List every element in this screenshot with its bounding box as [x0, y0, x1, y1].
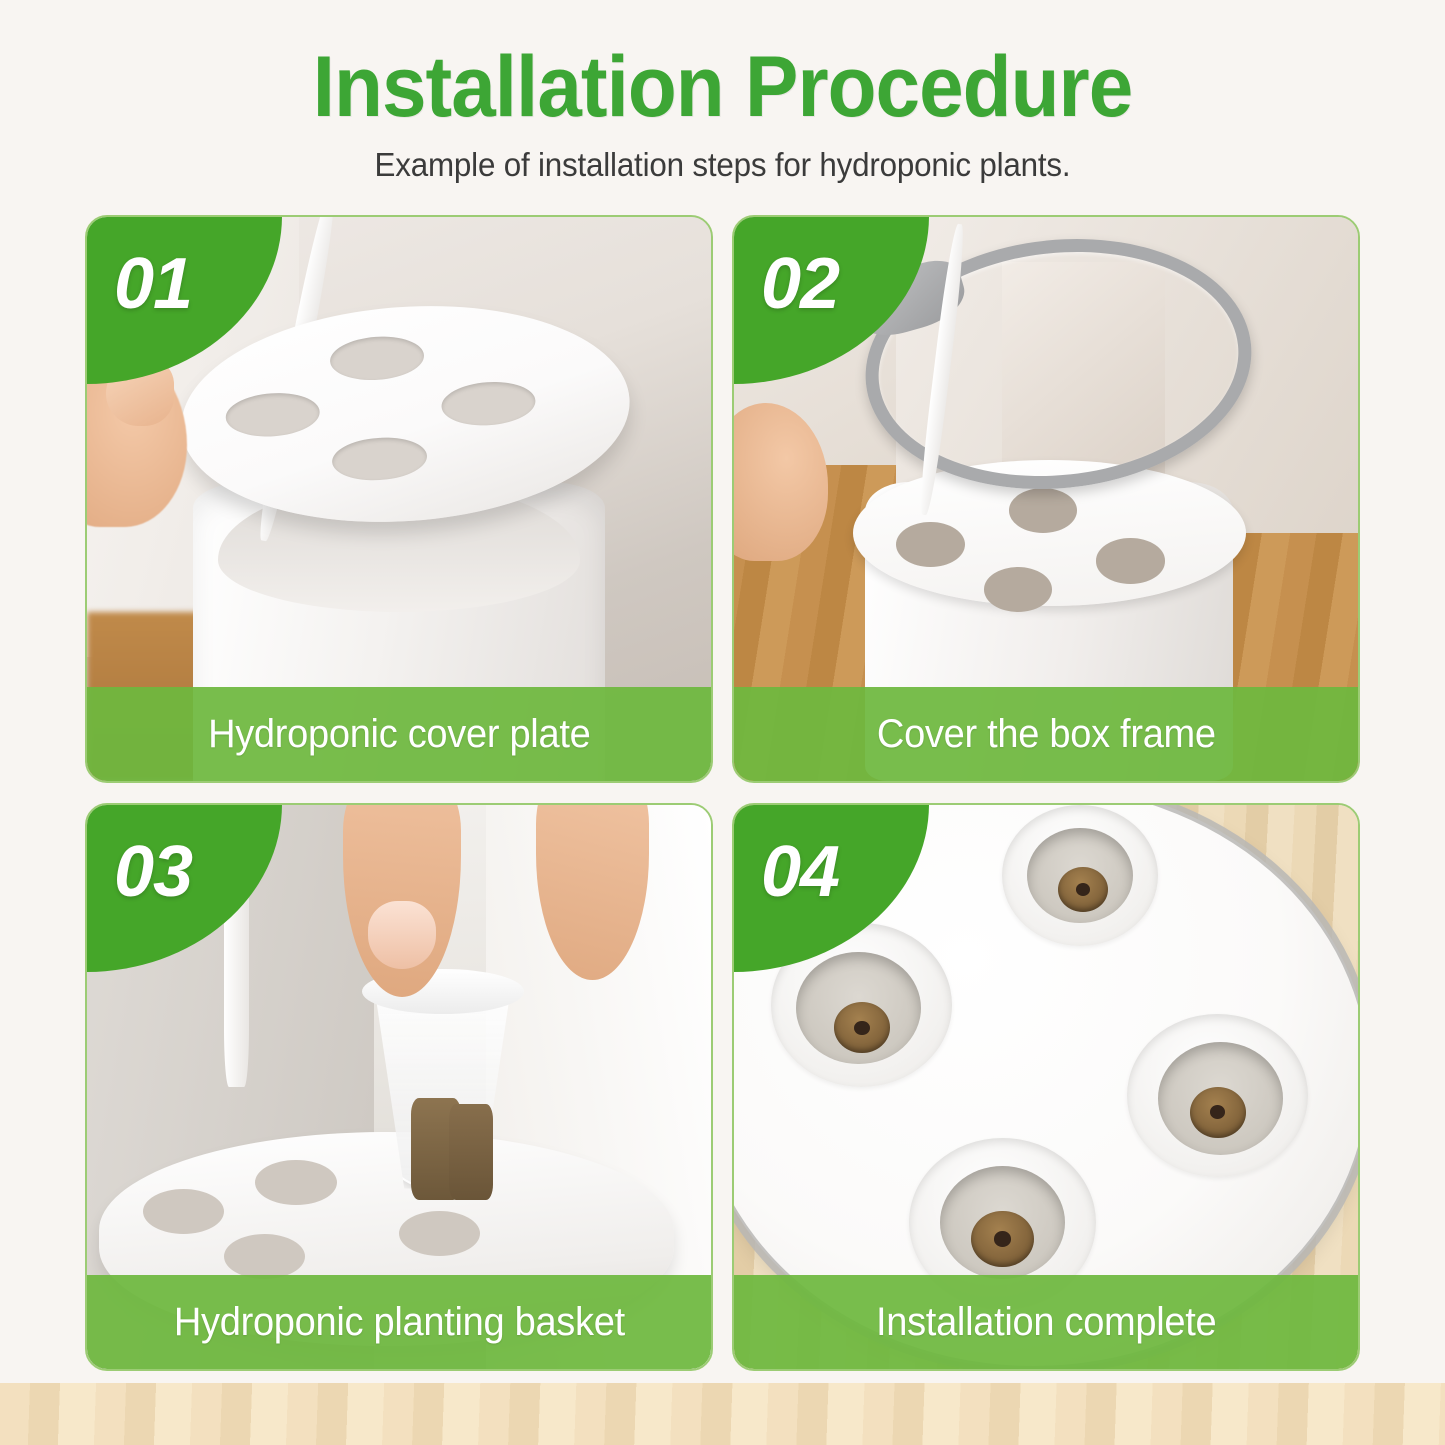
sponge-plug: [449, 1104, 493, 1200]
plate-hole: [896, 522, 965, 567]
plate-hole: [331, 435, 428, 484]
step-caption-bar-02: Cover the box frame: [734, 687, 1358, 781]
step-card-04[interactable]: 04 Installation complete: [732, 803, 1360, 1371]
plate-hole: [224, 390, 321, 439]
plate-hole: [328, 334, 425, 383]
step-number: 04: [761, 836, 839, 908]
plate-hole: [1096, 538, 1165, 583]
step-caption-text: Hydroponic planting basket: [173, 1300, 624, 1345]
page-title: Installation Procedure: [51, 42, 1395, 132]
step-caption-bar-04: Installation complete: [734, 1275, 1358, 1369]
step-caption-text: Hydroponic cover plate: [208, 712, 590, 757]
plate-hole: [224, 1234, 305, 1279]
step-number: 03: [114, 836, 192, 908]
step-number: 02: [761, 248, 839, 320]
fingernail: [368, 901, 437, 969]
step-caption-text: Cover the box frame: [877, 712, 1216, 757]
plate-hole: [143, 1189, 224, 1234]
step-caption-bar-01: Hydroponic cover plate: [87, 687, 711, 781]
plate-hole: [1009, 488, 1078, 533]
step-card-02[interactable]: 02 Cover the box frame: [732, 215, 1360, 783]
hand: [734, 403, 828, 561]
plate-hole: [255, 1160, 336, 1205]
sponge-plug: [834, 1002, 890, 1053]
page-header: Installation Procedure Example of instal…: [0, 0, 1445, 184]
plate-hole: [399, 1211, 480, 1256]
step-caption-text: Installation complete: [876, 1300, 1216, 1345]
sponge-plug: [1190, 1087, 1246, 1138]
plate-hole: [439, 380, 536, 429]
step-number: 01: [114, 248, 192, 320]
page-subtitle: Example of installation steps for hydrop…: [36, 146, 1409, 184]
step-caption-bar-03: Hydroponic planting basket: [87, 1275, 711, 1369]
step-card-03[interactable]: 03 Hydroponic planting basket: [85, 803, 713, 1371]
step-card-01[interactable]: 01 Hydroponic cover plate: [85, 215, 713, 783]
bottom-wood-strip: [0, 1383, 1445, 1445]
sponge-plug: [971, 1211, 1033, 1267]
plate-hole: [984, 567, 1053, 612]
steps-grid: 01 Hydroponic cover plate 02 Cover the b…: [85, 215, 1360, 1380]
